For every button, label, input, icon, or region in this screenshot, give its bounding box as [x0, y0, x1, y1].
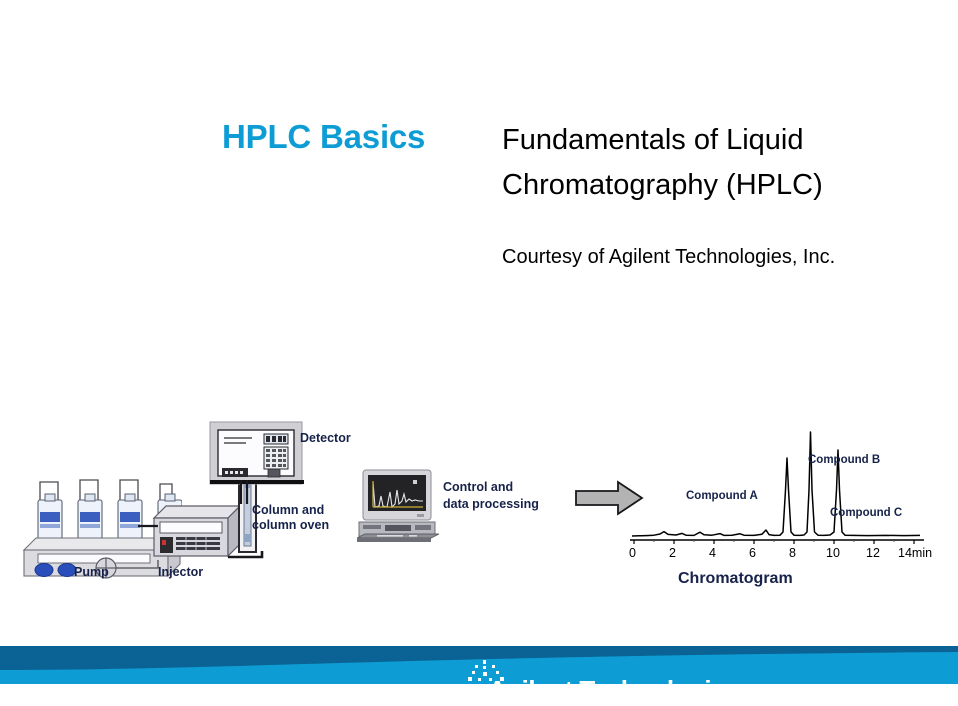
- chromatogram-chart: [628, 428, 928, 553]
- subtitle-line-2: Chromatography (HPLC): [502, 163, 942, 208]
- tubing-pump-injector: [138, 521, 158, 531]
- hplc-system-diagram: Pump Injector: [0, 400, 958, 620]
- x-tick-4: 8: [789, 546, 796, 560]
- detector-icon: [208, 420, 304, 492]
- label-column-line1: Column and: [252, 503, 324, 518]
- computer-icon: [357, 468, 441, 544]
- footer-banner: [0, 640, 958, 684]
- title-row: HPLC Basics Fundamentals of Liquid Chrom…: [0, 118, 958, 288]
- tubing-detector-column: [238, 480, 252, 504]
- x-tick-5: 10: [826, 546, 840, 560]
- x-tick-3: 6: [749, 546, 756, 560]
- label-control-line2: data processing: [443, 497, 539, 512]
- label-control-line1: Control and: [443, 480, 513, 495]
- agilent-brand-text: Agilent Technologies: [488, 675, 739, 706]
- label-column-line2: column oven: [252, 518, 329, 533]
- peak-label-compound-c: Compound C: [830, 507, 902, 519]
- x-tick-0: 0: [629, 546, 636, 560]
- x-tick-1: 2: [669, 546, 676, 560]
- chart-title: Chromatogram: [678, 570, 793, 588]
- subtitle-block: Fundamentals of Liquid Chromatography (H…: [502, 118, 942, 208]
- page-title: HPLC Basics: [222, 118, 425, 156]
- label-injector: Injector: [158, 565, 203, 580]
- peak-label-compound-b: Compound B: [808, 454, 880, 466]
- x-tick-6: 12: [866, 546, 880, 560]
- peak-label-compound-a: Compound A: [686, 490, 758, 502]
- subtitle-line-1: Fundamentals of Liquid: [502, 118, 942, 163]
- footer-page-label: HPLC Basics: [867, 22, 944, 36]
- x-tick-2: 4: [709, 546, 716, 560]
- slide-root: HPLC Basics Fundamentals of Liquid Chrom…: [0, 0, 958, 684]
- label-detector: Detector: [300, 431, 351, 446]
- x-tick-7: 14min: [898, 546, 932, 560]
- label-pump: Pump: [74, 565, 109, 580]
- courtesy-text: Courtesy of Agilent Technologies, Inc.: [502, 246, 835, 269]
